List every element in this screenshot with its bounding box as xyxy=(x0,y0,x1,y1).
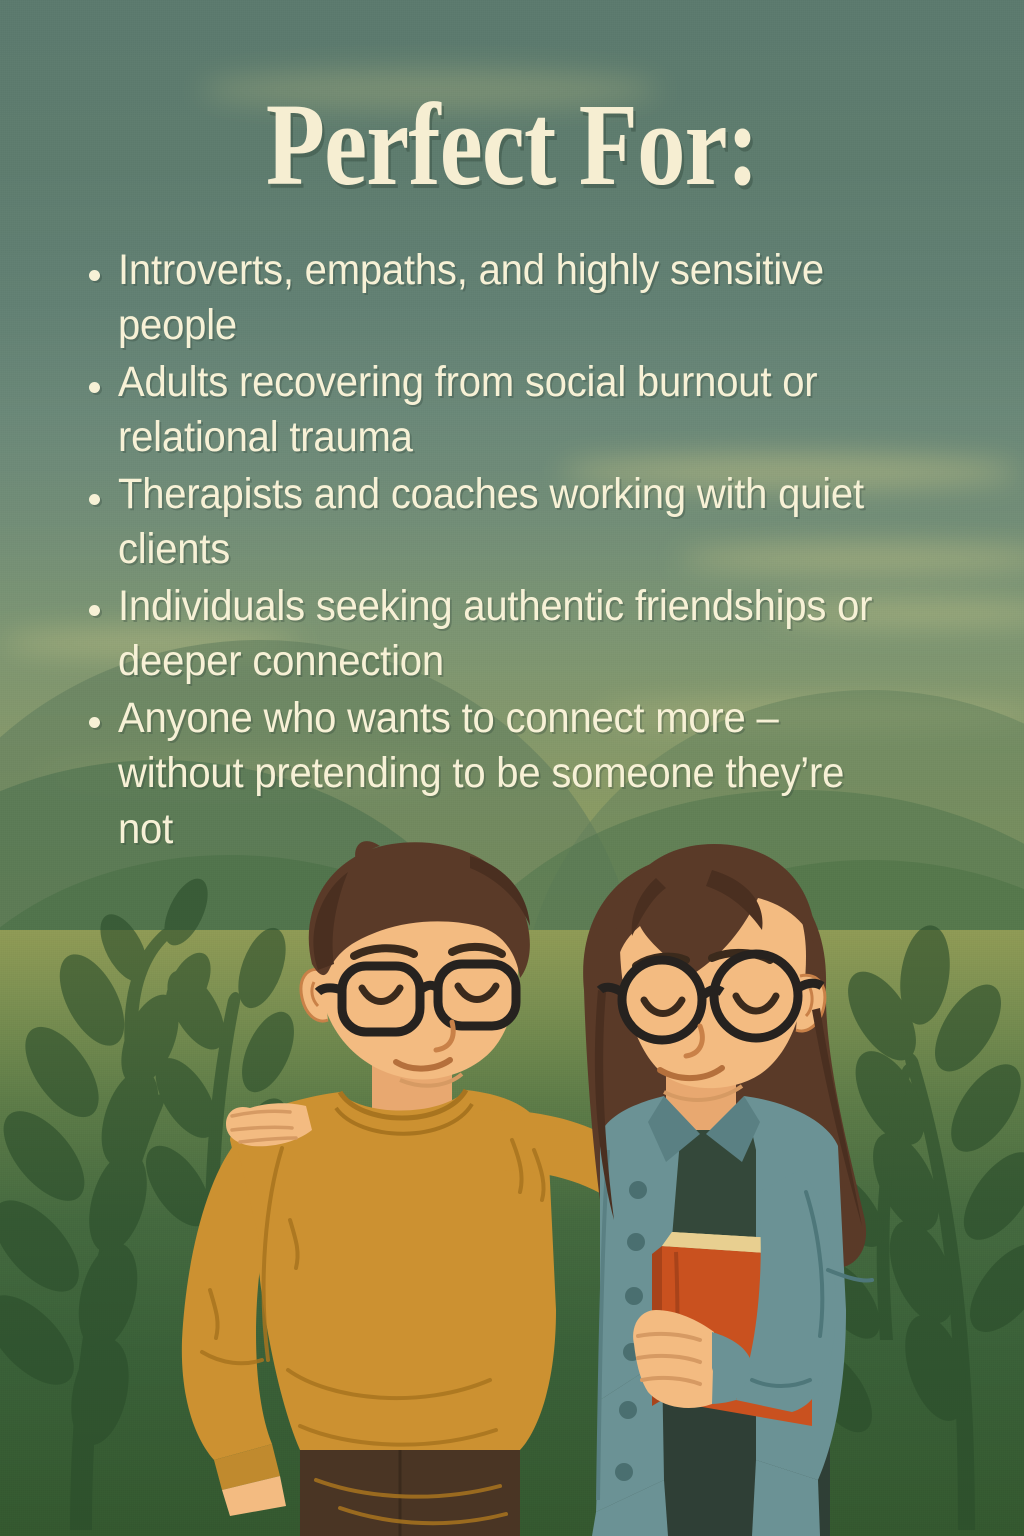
poster-canvas: Perfect For: Introverts, empaths, and hi… xyxy=(0,0,1024,1536)
list-item: Anyone who wants to connect more – witho… xyxy=(78,691,958,857)
list-item-label: Adults recovering from social burnout or… xyxy=(118,355,899,466)
list-item: Individuals seeking authentic friendship… xyxy=(78,579,958,690)
bullet-dot-icon xyxy=(89,270,100,281)
list-item: Adults recovering from social burnout or… xyxy=(78,355,958,466)
list-item: Introverts, empaths, and highly sensitiv… xyxy=(78,243,958,354)
list-item-label: Individuals seeking authentic friendship… xyxy=(118,579,899,690)
bullet-dot-icon xyxy=(89,717,100,728)
page-title: Perfect For: xyxy=(92,86,932,204)
list-item-label: Introverts, empaths, and highly sensitiv… xyxy=(118,243,899,354)
benefits-list: Introverts, empaths, and highly sensitiv… xyxy=(78,243,958,858)
bullet-dot-icon xyxy=(89,494,100,505)
bullet-dot-icon xyxy=(89,605,100,616)
bullet-dot-icon xyxy=(89,382,100,393)
list-item: Therapists and coaches working with quie… xyxy=(78,467,958,578)
list-item-label: Anyone who wants to connect more – witho… xyxy=(118,691,899,857)
text-layer: Perfect For: Introverts, empaths, and hi… xyxy=(0,0,1024,960)
list-item-label: Therapists and coaches working with quie… xyxy=(118,467,899,578)
